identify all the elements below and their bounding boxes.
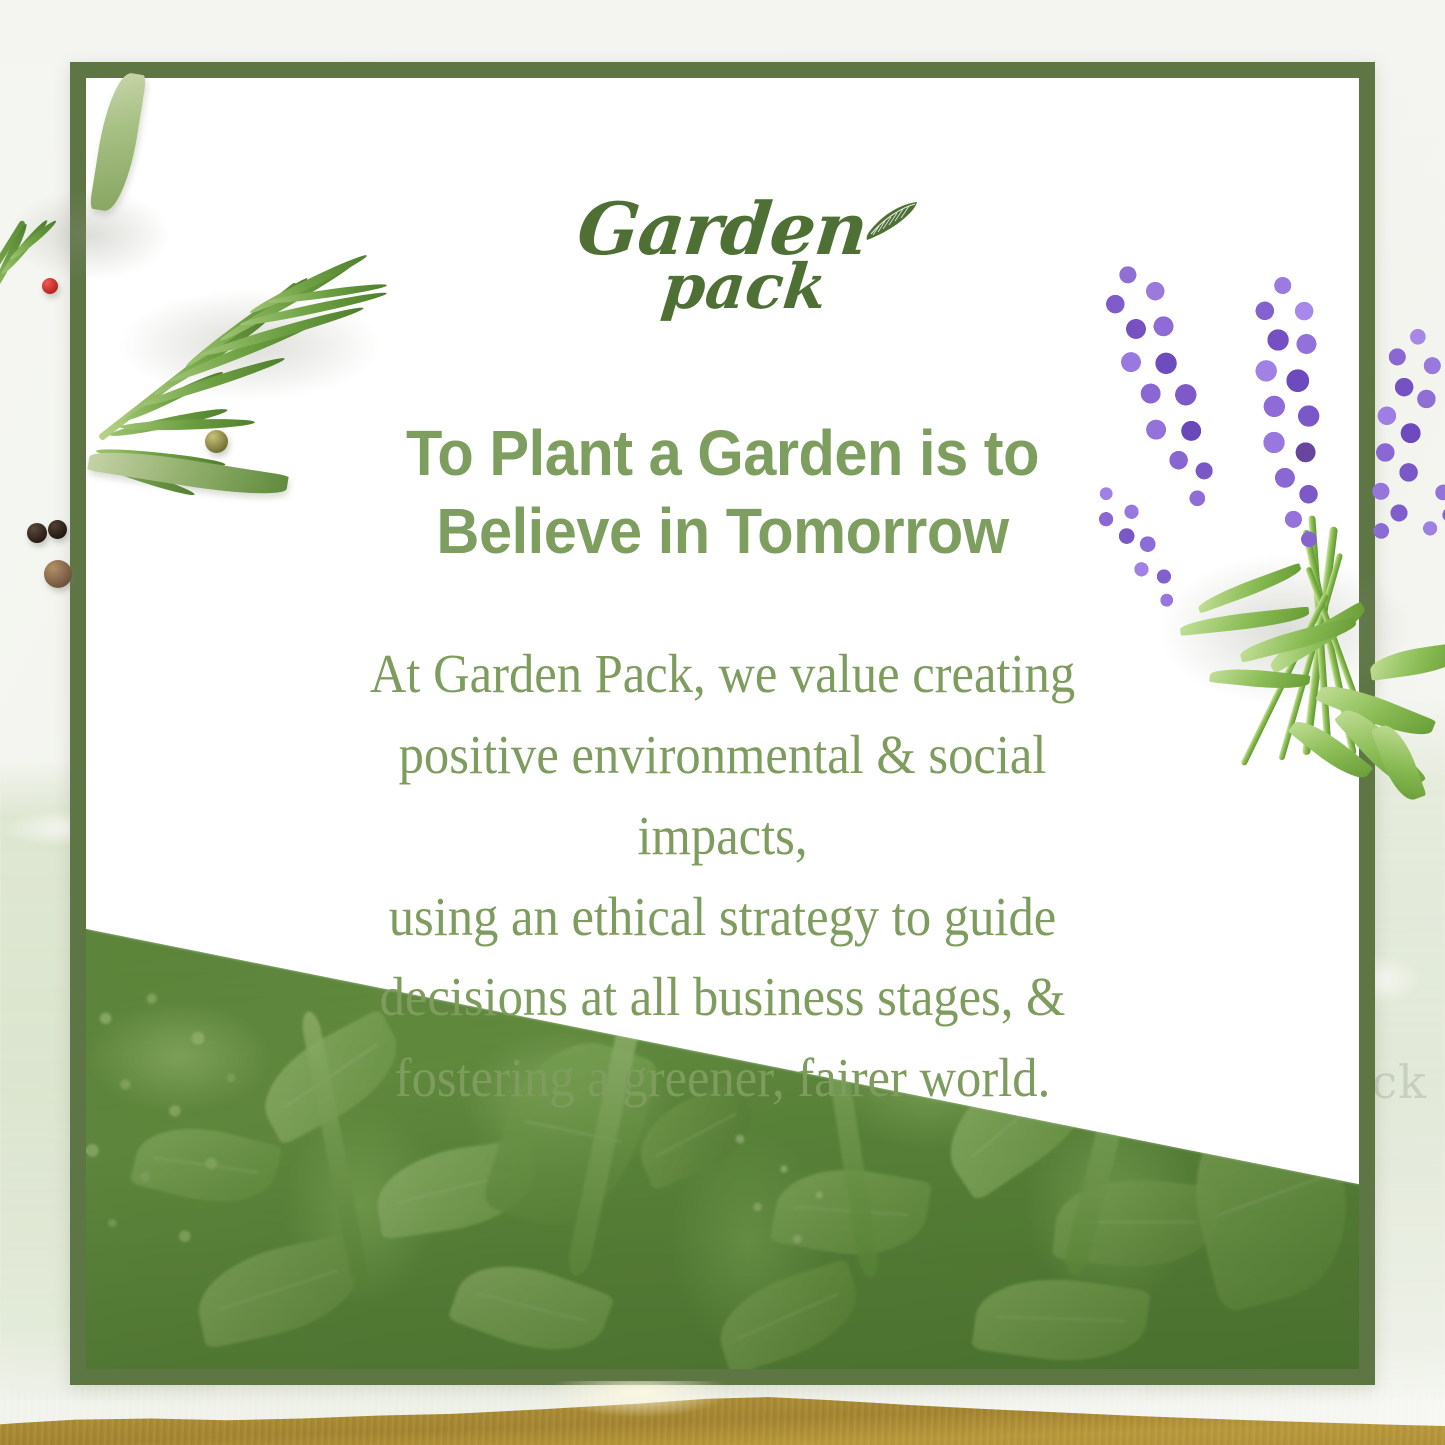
- body-line-1: At Garden Pack, we value creating: [312, 634, 1134, 715]
- body-line-5: fostering a greener, fairer world.: [312, 1038, 1134, 1119]
- wood-table-edge: [0, 1381, 1445, 1445]
- headline-line-1: To Plant a Garden is to: [270, 414, 1175, 492]
- poster-canvas: ck: [0, 0, 1445, 1445]
- brand-logo: Garden pack: [86, 196, 1359, 317]
- logo-text-garden: Garden: [575, 196, 871, 262]
- headline-line-2: Believe in Tomorrow: [270, 492, 1175, 570]
- logo-text-pack: pack: [597, 258, 892, 317]
- page-title: To Plant a Garden is to Believe in Tomor…: [270, 414, 1175, 570]
- poster-frame: Garden pack To Plant a Garden is to Bel: [70, 62, 1375, 1385]
- leaf-icon: [857, 200, 919, 242]
- wood-highlight: [549, 1381, 729, 1417]
- body-line-2: positive environmental & social impacts,: [312, 715, 1134, 877]
- body-paragraph: At Garden Pack, we value creating positi…: [312, 634, 1134, 1119]
- background-watermark: ck: [1371, 1055, 1427, 1109]
- body-line-4: decisions at all business stages, &: [312, 957, 1134, 1038]
- body-line-3: using an ethical strategy to guide: [312, 877, 1134, 958]
- poster-card: Garden pack To Plant a Garden is to Bel: [86, 78, 1359, 1369]
